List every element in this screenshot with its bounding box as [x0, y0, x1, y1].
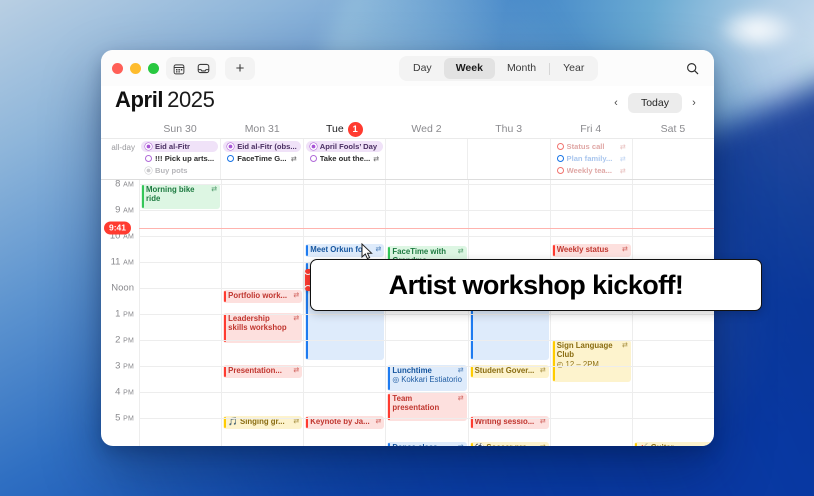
event-title: 🎵 Singing gr... [228, 417, 290, 426]
calendar-event[interactable]: Morning bike ride⇄ [141, 184, 220, 209]
calendar-event[interactable]: Presentation...⇄ [223, 365, 302, 378]
all-day-column-2[interactable]: April Fools’ DayTake out the...⇄ [303, 139, 385, 179]
event-time-row: ◴12 – 2PM [557, 360, 628, 369]
calendar-event[interactable]: Portfolio work...⇄ [223, 290, 302, 303]
all-day-column-3[interactable] [385, 139, 467, 179]
day-column-0[interactable]: Morning bike ride⇄ [139, 180, 221, 446]
view-tab-month[interactable]: Month [495, 58, 548, 79]
calendar-event[interactable]: Sign Language Club⇄◴12 – 2PM [552, 340, 631, 382]
hour-suffix: AM [123, 182, 134, 189]
toolbar-icon-group [166, 57, 216, 80]
repeat-icon: ⇄ [376, 417, 382, 426]
repeat-icon: ⇄ [620, 155, 626, 163]
gutter-spacer [101, 120, 139, 138]
day-header-label: Sun 30 [163, 123, 196, 135]
grid-inner: 8 AM9 AM10 AM11 AMNoon1 PM2 PM3 PM4 PM5 … [101, 180, 714, 446]
event-color-bar [306, 417, 308, 428]
page-title: April2025 [115, 87, 214, 113]
hour-label-4: Noon [111, 283, 134, 294]
event-title-row: Morning bike ride⇄ [146, 185, 217, 204]
repeat-icon: ⇄ [540, 443, 546, 446]
title-month: April [115, 87, 163, 112]
hour-suffix: PM [123, 312, 134, 319]
event-color-bar [224, 291, 226, 302]
day-header-row: Sun 30Mon 31Tue1Wed 2Thu 3Fri 4Sat 5 [101, 120, 714, 138]
view-segmented-control[interactable]: Day Week Month Year [399, 56, 598, 81]
event-title-row: ⚽ Soccer pra...⇄ [475, 443, 546, 446]
day-header-5[interactable]: Fri 4 [550, 120, 632, 138]
event-title-row: Presentation...⇄ [228, 366, 299, 375]
close-button[interactable] [112, 63, 123, 74]
hour-number: 5 [115, 413, 120, 424]
event-title: Team presentation [392, 394, 454, 413]
day-column-5[interactable]: Weekly status⇄Sign Language Club⇄◴12 – 2… [550, 180, 632, 446]
all-day-item[interactable]: Eid al-Fitr (obs... [223, 141, 301, 152]
event-time: 12 – 2PM [566, 360, 599, 369]
event-title-row: Student Gover...⇄ [475, 366, 546, 375]
repeat-icon: ⇄ [622, 341, 628, 350]
event-title: Keynote by Ja... [310, 417, 372, 426]
all-day-item-label: !!! Pick up arts... [155, 154, 214, 163]
event-color-bar [142, 185, 144, 208]
repeat-icon: ⇄ [293, 417, 299, 426]
event-color-dot-icon [310, 143, 317, 150]
event-title: Lunchtime [392, 366, 454, 375]
event-color-bar [553, 245, 555, 256]
event-tooltip: Artist workshop kickoff! [310, 259, 762, 311]
event-title-row: 🎵 Singing gr...⇄ [228, 417, 299, 426]
day-header-label: Sat 5 [661, 123, 686, 135]
all-day-item[interactable]: Buy pots [141, 165, 218, 176]
minimize-button[interactable] [130, 63, 141, 74]
calendar-event[interactable]: Lunchtime⇄◎Kokkari Estiatorio [387, 365, 466, 391]
event-color-bar [635, 443, 637, 446]
toolbar-buttons: + [166, 57, 255, 80]
time-gutter: 8 AM9 AM10 AM11 AMNoon1 PM2 PM3 PM4 PM5 … [101, 180, 139, 446]
calendar-event[interactable]: ⚽ Soccer pra...⇄ [470, 442, 549, 446]
event-title: Morning bike ride [146, 185, 208, 204]
all-day-item-label: Plan family... [567, 154, 617, 163]
event-color-dot-icon [557, 167, 564, 174]
event-title-row: 🎸 Guitar lessons with S⇄ [639, 443, 710, 446]
all-day-item-label: Buy pots [155, 166, 214, 175]
hour-suffix: PM [123, 416, 134, 423]
view-tab-year[interactable]: Year [551, 58, 596, 79]
calendar-event[interactable]: Leadership skills workshop⇄ [223, 313, 302, 343]
event-color-bar [471, 417, 473, 428]
event-title: 🎸 Guitar lessons with S [639, 443, 701, 446]
repeat-icon: ⇄ [291, 155, 297, 163]
event-title: Dance class [392, 443, 454, 446]
event-color-bar [471, 443, 473, 446]
hour-label-5: 1 PM [115, 309, 134, 320]
day-header-label: Mon 31 [245, 123, 280, 135]
day-header-label: Wed 2 [411, 123, 441, 135]
inbox-icon[interactable] [191, 57, 216, 80]
repeat-icon: ⇄ [458, 443, 464, 446]
event-title-row: Portfolio work...⇄ [228, 291, 299, 300]
day-header-3[interactable]: Wed 2 [385, 120, 467, 138]
screen: + Day Week Month Year April2025 ‹ Today … [0, 0, 814, 496]
event-title: Leadership skills workshop [228, 314, 290, 333]
event-color-dot-icon [145, 167, 152, 174]
hour-suffix: PM [123, 390, 134, 397]
calendar-event[interactable]: 🎵 Singing gr...⇄ [223, 416, 302, 429]
day-header-6[interactable]: Sat 5 [632, 120, 714, 138]
repeat-icon: ⇄ [376, 245, 382, 254]
calendar-event[interactable]: Student Gover...⇄ [470, 365, 549, 378]
today-button[interactable]: Today [628, 93, 682, 113]
day-header-2[interactable]: Tue1 [303, 120, 385, 138]
event-title-row: Keynote by Ja...⇄ [310, 417, 381, 426]
repeat-icon: ⇄ [373, 155, 379, 163]
all-day-item[interactable]: Take out the...⇄ [306, 153, 383, 164]
event-title-row: Writing sessio...⇄ [475, 417, 546, 426]
event-color-dot-icon [310, 155, 317, 162]
event-color-bar [306, 245, 308, 256]
calendar-icon[interactable] [166, 57, 191, 80]
hour-label-8: 4 PM [115, 387, 134, 398]
all-day-item-label: FaceTime G... [237, 154, 288, 163]
calendar-event[interactable]: Writing sessio...⇄ [470, 416, 549, 429]
all-day-row: all-day Eid al-Fitr!!! Pick up arts...Bu… [101, 138, 714, 180]
event-color-bar [388, 366, 390, 390]
calendar-header: April2025 ‹ Today › [101, 86, 714, 120]
hour-label-6: 2 PM [115, 335, 134, 346]
hour-label-9: 5 PM [115, 413, 134, 424]
event-location: Kokkari Estiatorio [401, 375, 462, 384]
event-color-dot-icon [227, 143, 234, 150]
event-color-dot-icon [557, 155, 564, 162]
day-column-3[interactable]: FaceTime with Grandma⇄Lunchtime⇄◎Kokkari… [385, 180, 467, 446]
zoom-button[interactable] [148, 63, 159, 74]
date-navigation: ‹ Today › [606, 93, 704, 113]
hour-suffix: PM [123, 364, 134, 371]
hour-number: 1 [115, 309, 120, 320]
all-day-item-label: April Fools’ Day [320, 142, 379, 151]
all-day-label: all-day [101, 139, 139, 179]
hour-suffix: PM [123, 338, 134, 345]
repeat-icon: ⇄ [293, 366, 299, 375]
event-title: Weekly status [557, 245, 619, 254]
all-day-item[interactable]: Status call⇄ [553, 141, 630, 152]
all-day-item-label: Eid al-Fitr (obs... [237, 142, 297, 151]
all-day-item-label: Status call [567, 142, 617, 151]
event-color-dot-icon [227, 155, 234, 162]
all-day-column-5[interactable]: Status call⇄Plan family...⇄Weekly tea...… [550, 139, 632, 179]
repeat-icon: ⇄ [620, 167, 626, 175]
day-header-4[interactable]: Thu 3 [468, 120, 550, 138]
repeat-icon: ⇄ [540, 417, 546, 426]
repeat-icon: ⇄ [458, 394, 464, 403]
calendar-event[interactable]: Weekly status⇄ [552, 244, 631, 257]
event-color-bar [224, 314, 226, 342]
day-header-label: Thu 3 [495, 123, 522, 135]
day-column-1[interactable]: Portfolio work...⇄Leadership skills work… [221, 180, 303, 446]
title-year: 2025 [167, 87, 214, 112]
event-title-row: Weekly status⇄ [557, 245, 628, 254]
all-day-column-6[interactable] [632, 139, 714, 179]
next-week-button[interactable]: › [684, 93, 704, 113]
view-tab-week[interactable]: Week [444, 58, 495, 79]
all-day-item[interactable]: !!! Pick up arts... [141, 153, 218, 164]
event-color-dot-icon [145, 155, 152, 162]
hour-number: 4 [115, 387, 120, 398]
hour-number: Noon [111, 283, 134, 294]
repeat-icon: ⇄ [458, 366, 464, 375]
all-day-item[interactable]: April Fools’ Day [306, 141, 383, 152]
event-title: ⚽ Soccer pra... [475, 443, 537, 446]
view-tab-day[interactable]: Day [401, 58, 444, 79]
today-date-badge: 1 [348, 122, 363, 137]
hour-label-1: 9 AM [115, 205, 134, 216]
hour-number: 3 [115, 361, 120, 372]
hour-suffix: AM [123, 208, 134, 215]
day-column-2[interactable]: Meet Orkun fo...⇄◴11AM – 1PMKeynote by J… [303, 180, 385, 446]
all-day-item[interactable]: Eid al-Fitr [141, 141, 218, 152]
event-title: Sign Language Club [557, 341, 619, 360]
event-title-row: Dance class⇄ [392, 443, 463, 446]
week-grid[interactable]: 8 AM9 AM10 AM11 AMNoon1 PM2 PM3 PM4 PM5 … [101, 180, 714, 446]
hour-number: 2 [115, 335, 120, 346]
event-title: Writing sessio... [475, 417, 537, 426]
calendar-event[interactable]: Keynote by Ja...⇄ [305, 416, 384, 429]
all-day-item-label: Weekly tea... [567, 166, 617, 175]
day-header-1[interactable]: Mon 31 [221, 120, 303, 138]
event-title: Student Gover... [475, 366, 537, 375]
repeat-icon: ⇄ [622, 245, 628, 254]
current-time-badge: 9:41 [104, 221, 131, 234]
day-column-6[interactable]: Plant garden⇄◴9 – 10AM🎸 Guitar lessons w… [632, 180, 714, 446]
event-title-row: Team presentation⇄ [392, 394, 463, 413]
event-title: Presentation... [228, 366, 290, 375]
event-title: Portfolio work... [228, 291, 290, 300]
hour-number: 8 [115, 180, 120, 190]
event-color-dot-icon [145, 143, 152, 150]
event-color-bar [224, 417, 226, 428]
all-day-item-label: Eid al-Fitr [155, 142, 214, 151]
repeat-icon: ⇄ [540, 366, 546, 375]
all-day-item[interactable]: Weekly tea...⇄ [553, 165, 630, 176]
clock-icon: ◴ [557, 360, 564, 369]
event-color-bar [388, 443, 390, 446]
all-day-item-label: Take out the... [320, 154, 371, 163]
repeat-icon: ⇄ [620, 143, 626, 151]
event-location-row: ◎Kokkari Estiatorio [392, 375, 463, 384]
all-day-column-0[interactable]: Eid al-Fitr!!! Pick up arts...Buy pots [139, 139, 220, 179]
segment-divider [549, 63, 550, 75]
repeat-icon: ⇄ [211, 185, 217, 194]
repeat-icon: ⇄ [458, 247, 464, 256]
day-header-0[interactable]: Sun 30 [139, 120, 221, 138]
all-day-item[interactable]: FaceTime G...⇄ [223, 153, 301, 164]
calendar-window: + Day Week Month Year April2025 ‹ Today … [101, 50, 714, 446]
search-icon[interactable] [681, 57, 704, 80]
calendar-event[interactable]: Team presentation⇄ [387, 393, 466, 421]
event-title-row: Lunchtime⇄ [392, 366, 463, 375]
day-header-label: Tue [326, 123, 344, 135]
mouse-cursor [361, 243, 373, 266]
tooltip-text: Artist workshop kickoff! [389, 270, 684, 301]
hour-suffix: AM [123, 260, 134, 267]
event-color-bar [553, 341, 555, 381]
all-day-column-1[interactable]: Eid al-Fitr (obs...FaceTime G...⇄ [220, 139, 303, 179]
event-color-bar [388, 394, 390, 420]
hour-number: 9 [115, 205, 120, 216]
event-title-row: Leadership skills workshop⇄ [228, 314, 299, 333]
repeat-icon: ⇄ [293, 291, 299, 300]
repeat-icon: ⇄ [293, 314, 299, 323]
hour-suffix: AM [123, 234, 134, 241]
calendar-event[interactable]: 🎸 Guitar lessons with S⇄ [634, 442, 713, 446]
event-color-bar [471, 366, 473, 377]
hour-label-7: 3 PM [115, 361, 134, 372]
previous-week-button[interactable]: ‹ [606, 93, 626, 113]
window-toolbar: + Day Week Month Year [101, 50, 714, 86]
hour-label-0: 8 AM [115, 180, 134, 190]
repeat-icon: ⇄ [704, 443, 710, 446]
calendar-event[interactable]: Dance class⇄◎Golden Gate Park◴4 – 5:30PM [387, 442, 466, 446]
event-title-row: Sign Language Club⇄ [557, 341, 628, 360]
day-header-label: Fri 4 [580, 123, 601, 135]
event-color-bar [224, 366, 226, 377]
location-pin-icon: ◎ [392, 375, 399, 384]
event-color-dot-icon [557, 143, 564, 150]
current-time-line [139, 228, 714, 229]
add-event-button[interactable]: + [225, 57, 255, 80]
hour-number: 11 [111, 257, 121, 268]
day-column-4[interactable]: ◴11AM – 1PMStudent Gover...⇄Writing sess… [468, 180, 550, 446]
all-day-column-4[interactable] [467, 139, 549, 179]
all-day-item[interactable]: Plan family...⇄ [553, 153, 630, 164]
traffic-lights [112, 63, 159, 74]
hour-label-3: 11 AM [111, 257, 134, 268]
